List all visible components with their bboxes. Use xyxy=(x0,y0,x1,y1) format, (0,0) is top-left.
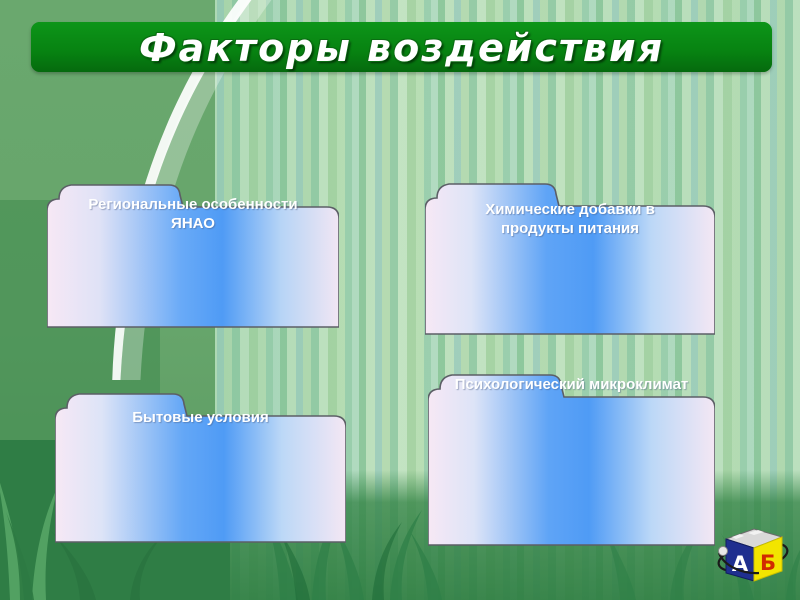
folder-label: Химические добавки в продукты питания xyxy=(448,200,692,238)
ab-cube-logo[interactable]: А Б xyxy=(714,521,792,591)
folder-label: Региональные особенности ЯНАО xyxy=(70,195,315,233)
folder-card-living[interactable]: Бытовые условия xyxy=(55,376,346,545)
folder-label: Бытовые условия xyxy=(78,408,322,427)
title-banner: Факторы воздействия xyxy=(31,22,772,72)
folder-shape xyxy=(47,163,339,330)
folder-shape xyxy=(55,376,346,545)
folder-label: Психологический микроклимат xyxy=(451,375,692,394)
folder-shape xyxy=(428,371,715,548)
page-title: Факторы воздействия xyxy=(31,24,772,72)
logo-letter-b: Б xyxy=(760,551,776,575)
folder-card-regional[interactable]: Региональные особенности ЯНАО xyxy=(47,163,339,330)
folder-card-chemical[interactable]: Химические добавки в продукты питания xyxy=(425,164,715,337)
folder-shape xyxy=(425,164,715,337)
presentation-slide: Факторы воздействия Региональные особенн… xyxy=(0,0,800,600)
folder-card-psychological[interactable]: Психологический микроклимат xyxy=(428,371,715,548)
